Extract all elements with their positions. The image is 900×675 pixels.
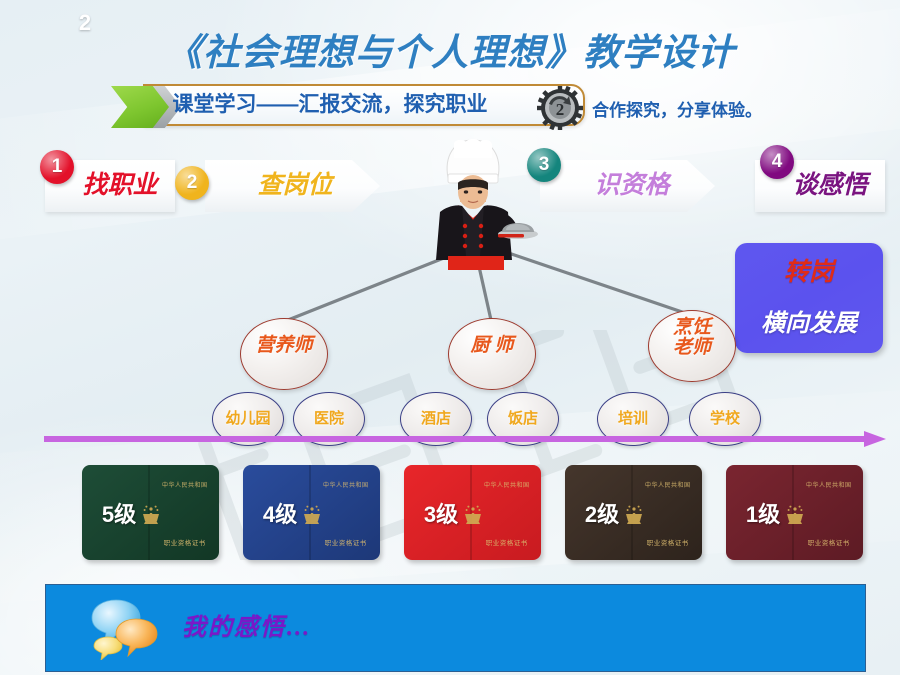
rotation-box-title: 转岗: [735, 252, 883, 288]
certificate-card[interactable]: 中华人民共和国职业资格证书5级: [82, 465, 219, 560]
step-badge-1: 1: [40, 150, 74, 184]
job-label-line1: 烹饪: [648, 318, 736, 338]
chef-photo: [410, 138, 540, 270]
job-label: 厨 师: [448, 336, 536, 356]
certificate-card[interactable]: 中华人民共和国职业资格证书3级: [404, 465, 541, 560]
reflection-bar: [45, 584, 866, 672]
section-step-number: 2: [56, 2, 114, 44]
cooperation-note: 合作探究，分享体验。: [592, 96, 762, 121]
certificate-card[interactable]: 中华人民共和国职业资格证书2级: [565, 465, 702, 560]
gear-icon: 2: [534, 86, 590, 130]
step-label-2: 查岗位: [230, 160, 360, 212]
section-header-label: 课堂学习——汇报交流，探究职业: [120, 84, 540, 126]
svg-text:2: 2: [556, 100, 565, 119]
certificate-grade-label: 2级: [571, 497, 633, 529]
certificate-type-text: 职业资格证书: [636, 537, 699, 547]
certificate-card[interactable]: 中华人民共和国职业资格证书1级: [726, 465, 863, 560]
job-label: 烹饪老师: [648, 318, 736, 358]
certificate-grade-label: 4级: [249, 497, 311, 529]
step-label-1: 找职业: [55, 160, 185, 212]
certificate-grade-label: 3级: [410, 497, 472, 529]
step-badge-4: 4: [760, 145, 794, 179]
certificate-type-text: 职业资格证书: [153, 537, 216, 547]
step-label-3: 识资格: [567, 160, 697, 212]
progress-arrow: [40, 430, 890, 448]
certificate-grade-label: 1级: [732, 497, 794, 529]
certificate-country-text: 中华人民共和国: [797, 480, 860, 489]
slide-canvas: 《社会理想与个人理想》教学设计 2 课堂学习——汇报交流，探究职业: [0, 0, 900, 675]
certificate-country-text: 中华人民共和国: [636, 480, 699, 489]
certificate-country-text: 中华人民共和国: [475, 480, 538, 489]
speech-bubble-icon: [88, 598, 160, 660]
certificate-type-text: 职业资格证书: [797, 537, 860, 547]
job-label-line2: 老师: [648, 338, 736, 358]
certificate-country-text: 中华人民共和国: [314, 480, 377, 489]
certificate-country-text: 中华人民共和国: [153, 480, 216, 489]
page-title: 《社会理想与个人理想》教学设计: [0, 22, 900, 76]
step-badge-2: 2: [175, 166, 209, 200]
job-label: 营养师: [240, 336, 328, 356]
certificate-card[interactable]: 中华人民共和国职业资格证书4级: [243, 465, 380, 560]
certificate-grade-label: 5级: [88, 497, 150, 529]
rotation-box-subtitle: 横向发展: [735, 303, 883, 338]
certificate-type-text: 职业资格证书: [475, 537, 538, 547]
certificate-type-text: 职业资格证书: [314, 537, 377, 547]
reflection-label: 我的感悟…: [182, 607, 312, 642]
